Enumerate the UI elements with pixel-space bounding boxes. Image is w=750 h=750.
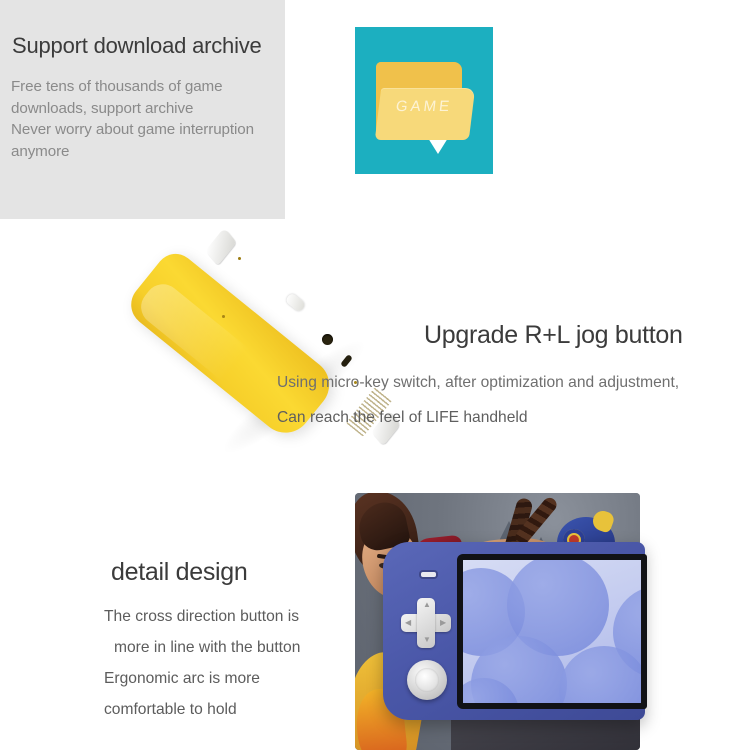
detail-body-line-1: The cross direction button is (104, 601, 364, 632)
console-screen-bezel (457, 554, 647, 709)
blue-console-photo: ▲ ▼ ◀ ▶ (383, 542, 645, 720)
jog-button-body-line-2: Can reach the feel of LIFE handheld (277, 409, 528, 427)
detail-body-line-2: more in line with the button (104, 632, 364, 663)
dpad-right-arrow-icon: ▶ (440, 619, 446, 627)
jog-button-body-line-1: Using micro-key switch, after optimizati… (277, 374, 679, 392)
shoulder-button (285, 292, 307, 313)
game-folder-icon: GAME (376, 62, 472, 140)
jog-button-section (0, 219, 750, 491)
archive-body-line-3: Never worry about game interruption (11, 119, 296, 141)
cross-direction-dpad: ▲ ▼ ◀ ▶ (401, 598, 451, 648)
detail-body-line-4: comfortable to hold (104, 694, 364, 725)
console-speaker-slot (421, 572, 436, 577)
detail-body-line-3: Ergonomic arc is more (104, 663, 364, 694)
archive-body-line-4: anymore (11, 141, 296, 163)
archive-heading: Support download archive (12, 32, 262, 60)
dpad-down-arrow-icon: ▼ (423, 636, 431, 644)
analog-stick (407, 660, 447, 700)
jog-button-heading: Upgrade R+L jog button (424, 320, 683, 350)
screen-bubble-5 (559, 646, 641, 703)
console-screen (463, 560, 641, 703)
folder-label-text: GAME (375, 98, 473, 115)
archive-body-text: Free tens of thousands of game downloads… (11, 76, 296, 162)
detail-design-heading: detail design (111, 556, 247, 588)
archive-body-line-2: downloads, support archive (11, 98, 296, 120)
archive-body-line-1: Free tens of thousands of game (11, 76, 296, 98)
download-archive-icon-tile: GAME (355, 27, 493, 174)
dpad-left-arrow-icon: ◀ (405, 619, 411, 627)
reset-pinhole (222, 315, 225, 318)
microphone-pinhole (238, 257, 241, 260)
dpad-up-arrow-icon: ▲ (423, 601, 431, 609)
headphone-jack-port (322, 334, 333, 345)
left-jog-button (205, 227, 236, 265)
detail-design-body-text: The cross direction button is more in li… (104, 601, 364, 725)
